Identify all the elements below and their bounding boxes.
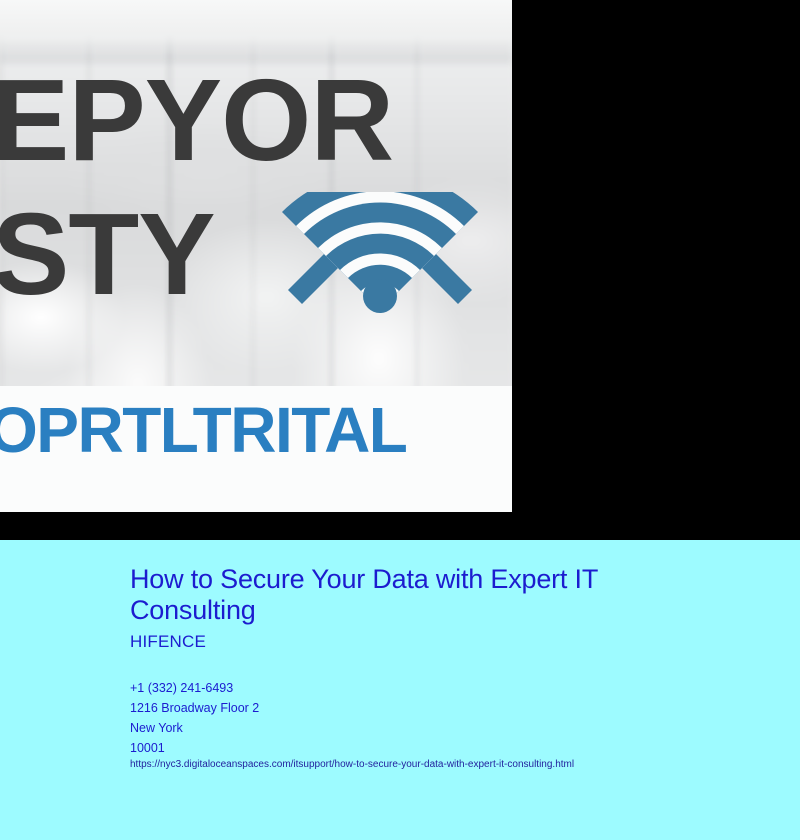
wifi-signal-icon	[282, 192, 478, 328]
contact-postal-code: 10001	[130, 738, 259, 758]
hero-headline-line-2: STY	[0, 196, 215, 312]
article-hero-image: EPYOR STY	[0, 0, 512, 512]
hero-headline-line-1: EPYOR	[0, 62, 393, 178]
article-content-card: How to Secure Your Data with Expert IT C…	[0, 540, 800, 840]
contact-street: 1216 Broadway Floor 2	[130, 698, 259, 718]
page-root: EPYOR STY	[0, 0, 800, 840]
source-url-link[interactable]: https://nyc3.digitaloceanspaces.com/itsu…	[130, 760, 574, 770]
contact-phone: +1 (332) 241-6493	[130, 678, 259, 698]
hero-logotype-text: OPRTLTRITAL	[0, 398, 406, 462]
brand-name: HIFENCE	[130, 633, 206, 650]
contact-block: +1 (332) 241-6493 1216 Broadway Floor 2 …	[130, 678, 259, 758]
hero-logotype-band: OPRTLTRITAL	[0, 386, 512, 512]
page-title: How to Secure Your Data with Expert IT C…	[130, 564, 730, 625]
contact-city: New York	[130, 718, 259, 738]
cityscape-sky-wash	[0, 0, 512, 56]
